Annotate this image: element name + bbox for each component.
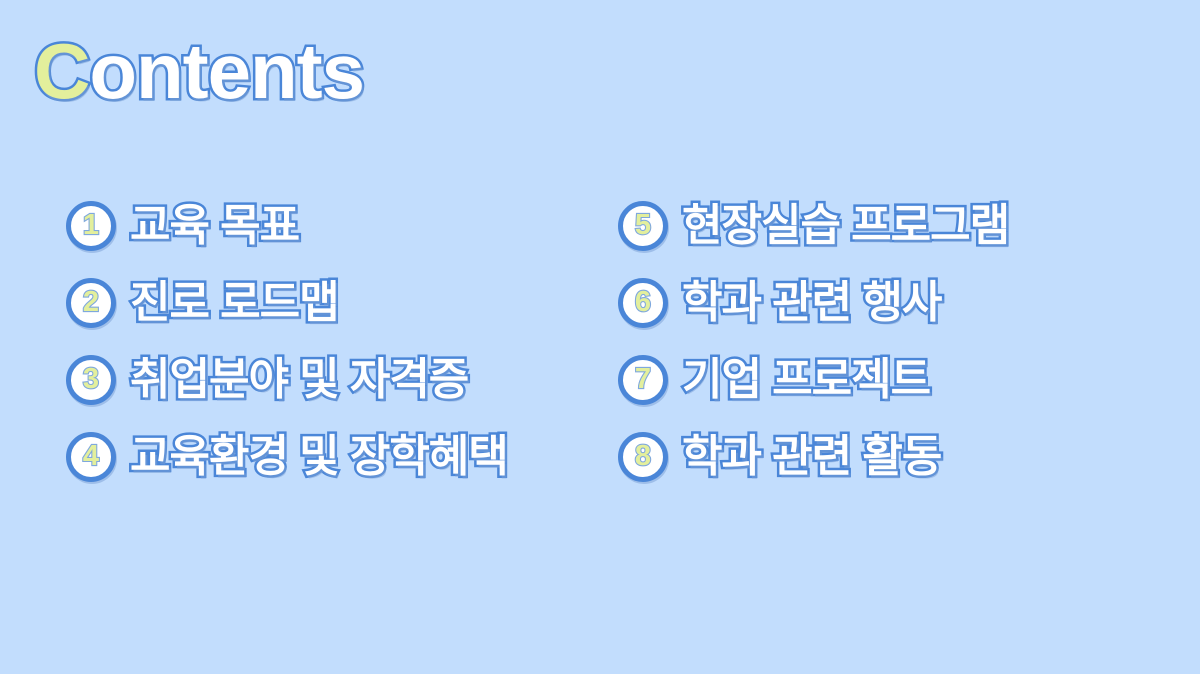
item-number-badge: 8	[618, 432, 668, 482]
title-block: Contents	[34, 28, 634, 118]
list-item[interactable]: 8 학과 관련 활동	[618, 427, 1158, 487]
list-item[interactable]: 4 교육환경 및 장학혜택	[66, 427, 606, 487]
item-number-badge: 6	[618, 278, 668, 328]
item-number: 6	[635, 287, 651, 317]
list-item[interactable]: 3 취업분야 및 자격증	[66, 350, 606, 410]
item-number: 5	[635, 210, 651, 240]
page-title: Contents	[34, 28, 634, 114]
item-label: 교육 목표	[130, 200, 299, 252]
item-label: 현장실습 프로그램	[682, 200, 1009, 252]
item-number: 2	[83, 287, 99, 317]
item-number: 3	[83, 364, 99, 394]
page-title-initial: C	[34, 27, 89, 115]
contents-slide: Contents 1 교육 목표 2 진로 로드맵 3 취업분야 및 자격증	[0, 0, 1200, 674]
item-number-badge: 1	[66, 201, 116, 251]
item-label: 학과 관련 활동	[682, 431, 941, 483]
item-number-badge: 5	[618, 201, 668, 251]
page-title-rest: ontents	[89, 27, 364, 115]
contents-list: 1 교육 목표 2 진로 로드맵 3 취업분야 및 자격증 4	[0, 196, 1200, 496]
contents-column-right: 5 현장실습 프로그램 6 학과 관련 행사 7 기업 프로젝트 8	[618, 196, 1158, 496]
item-label: 취업분야 및 자격증	[130, 354, 468, 406]
list-item[interactable]: 1 교육 목표	[66, 196, 606, 256]
item-label: 학과 관련 행사	[682, 277, 941, 329]
item-number: 4	[83, 441, 99, 471]
item-number: 8	[635, 441, 651, 471]
item-number-badge: 4	[66, 432, 116, 482]
item-number-badge: 7	[618, 355, 668, 405]
list-item[interactable]: 2 진로 로드맵	[66, 273, 606, 333]
item-label: 기업 프로젝트	[682, 354, 930, 406]
list-item[interactable]: 6 학과 관련 행사	[618, 273, 1158, 333]
item-number-badge: 3	[66, 355, 116, 405]
list-item[interactable]: 5 현장실습 프로그램	[618, 196, 1158, 256]
item-number-badge: 2	[66, 278, 116, 328]
contents-column-left: 1 교육 목표 2 진로 로드맵 3 취업분야 및 자격증 4	[66, 196, 606, 496]
item-label: 교육환경 및 장학혜택	[130, 431, 508, 483]
item-label: 진로 로드맵	[130, 277, 339, 329]
item-number: 1	[83, 210, 99, 240]
item-number: 7	[635, 364, 651, 394]
list-item[interactable]: 7 기업 프로젝트	[618, 350, 1158, 410]
